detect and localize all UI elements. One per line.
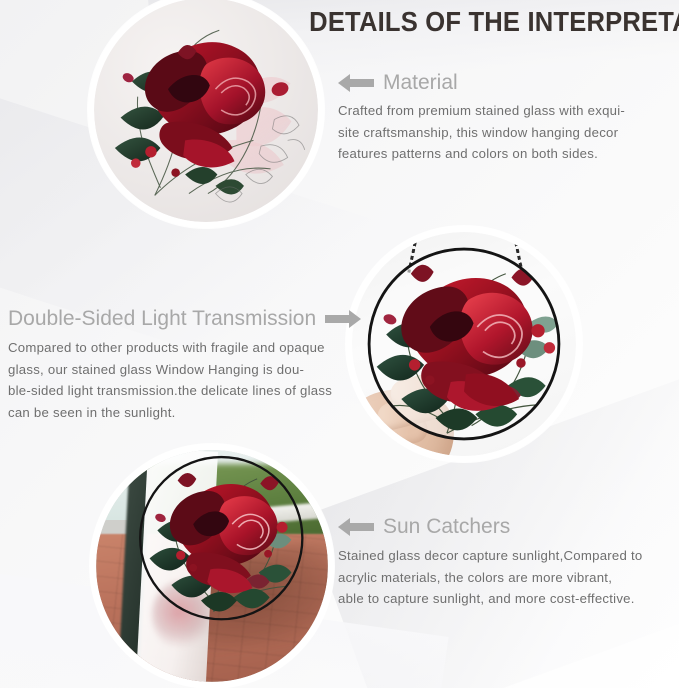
- section-material-title: Material: [383, 70, 458, 96]
- rose-artwork-hanging: [352, 232, 576, 456]
- body-line: able to capture sunlight, and more cost-…: [338, 588, 678, 610]
- photo-transmission-inner: [352, 232, 576, 456]
- section-transmission-heading: Double-Sided Light Transmission: [8, 306, 338, 332]
- product-photo-suncatcher: [90, 444, 334, 688]
- rose-artwork-outdoor: [126, 450, 316, 633]
- section-material-heading: Material: [338, 70, 676, 96]
- arrow-left-icon: [338, 73, 374, 93]
- product-photo-material: [88, 0, 324, 228]
- body-line: site craftsmanship, this window hanging …: [338, 122, 676, 144]
- section-material-body: Crafted from premium stained glass with …: [338, 100, 676, 165]
- page-title: DETAILS OF THE INTERPRETATION: [309, 2, 659, 42]
- body-line: Stained glass decor capture sunlight,Com…: [338, 545, 678, 567]
- section-transmission: Double-Sided Light Transmission Compared…: [8, 306, 338, 423]
- photo-suncatcher-inner: [96, 450, 328, 682]
- body-line: Compared to other products with fragile …: [8, 337, 338, 359]
- product-photo-transmission: [346, 226, 582, 462]
- photo-material-inner: [94, 0, 318, 222]
- body-line: glass, our stained glass Window Hanging …: [8, 359, 338, 381]
- product-infographic: DETAILS OF THE INTERPRETATION: [0, 0, 679, 688]
- body-line: ble-sided light transmission.the delicat…: [8, 380, 338, 402]
- section-suncatcher-heading: Sun Catchers: [338, 514, 678, 540]
- section-material: Material Crafted from premium stained gl…: [338, 70, 676, 165]
- arrow-right-icon: [325, 309, 361, 329]
- section-suncatcher-body: Stained glass decor capture sunlight,Com…: [338, 545, 678, 610]
- arrow-left-icon: [338, 517, 374, 537]
- body-line: can be seen in the sunlight.: [8, 402, 338, 424]
- section-transmission-body: Compared to other products with fragile …: [8, 337, 338, 423]
- body-line: acrylic materials, the colors are more v…: [338, 567, 678, 589]
- body-line: features patterns and colors on both sid…: [338, 143, 676, 165]
- section-suncatcher: Sun Catchers Stained glass decor capture…: [338, 514, 678, 610]
- section-suncatcher-title: Sun Catchers: [383, 514, 510, 540]
- body-line: Crafted from premium stained glass with …: [338, 100, 676, 122]
- section-transmission-title: Double-Sided Light Transmission: [8, 306, 316, 332]
- rose-artwork-closeup: [94, 0, 318, 222]
